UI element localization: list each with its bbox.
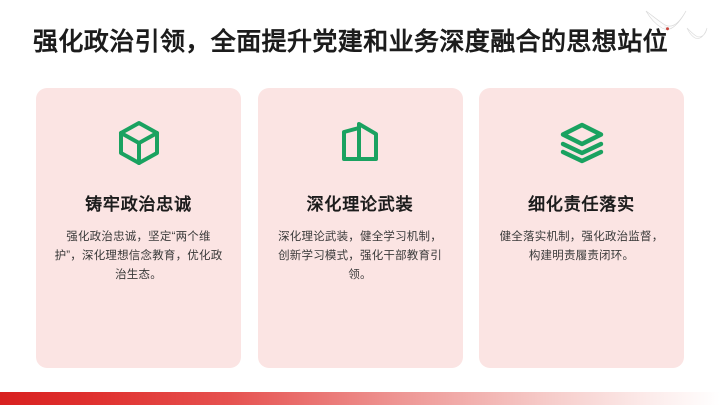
cube-icon — [112, 116, 166, 170]
feature-card-title: 铸牢政治忠诚 — [85, 194, 192, 216]
page-title: 强化政治引领，全面提升党建和业务深度融合的思想站位 — [33, 26, 668, 58]
feature-card-2[interactable]: 深化理论武装 深化理论武装，健全学习机制，创新学习模式，强化干部教育引领。 — [258, 88, 463, 368]
bird-small-icon — [686, 26, 708, 42]
card-row: 铸牢政治忠诚 强化政治忠诚，坚定“两个维护”，深化理想信念教育，优化政治生态。 … — [36, 88, 684, 368]
feature-card-3[interactable]: 细化责任落实 健全落实机制，强化政治监督，构建明责履责闭环。 — [479, 88, 684, 368]
feature-card-title: 深化理论武装 — [307, 194, 414, 216]
slide-root: 强化政治引领，全面提升党建和业务深度融合的思想站位 铸牢政治忠诚 强化政治忠诚，… — [0, 0, 720, 405]
feature-card-body: 健全落实机制，强化政治监督，构建明责履责闭环。 — [497, 228, 667, 266]
feature-card-1[interactable]: 铸牢政治忠诚 强化政治忠诚，坚定“两个维护”，深化理想信念教育，优化政治生态。 — [36, 88, 241, 368]
feature-card-body: 强化政治忠诚，坚定“两个维护”，深化理想信念教育，优化政治生态。 — [54, 228, 224, 285]
layers-icon — [555, 116, 609, 170]
feature-card-title: 细化责任落实 — [528, 194, 635, 216]
building-icon — [333, 116, 387, 170]
bottom-accent-bar — [0, 392, 720, 405]
feature-card-body: 深化理论武装，健全学习机制，创新学习模式，强化干部教育引领。 — [275, 228, 445, 285]
